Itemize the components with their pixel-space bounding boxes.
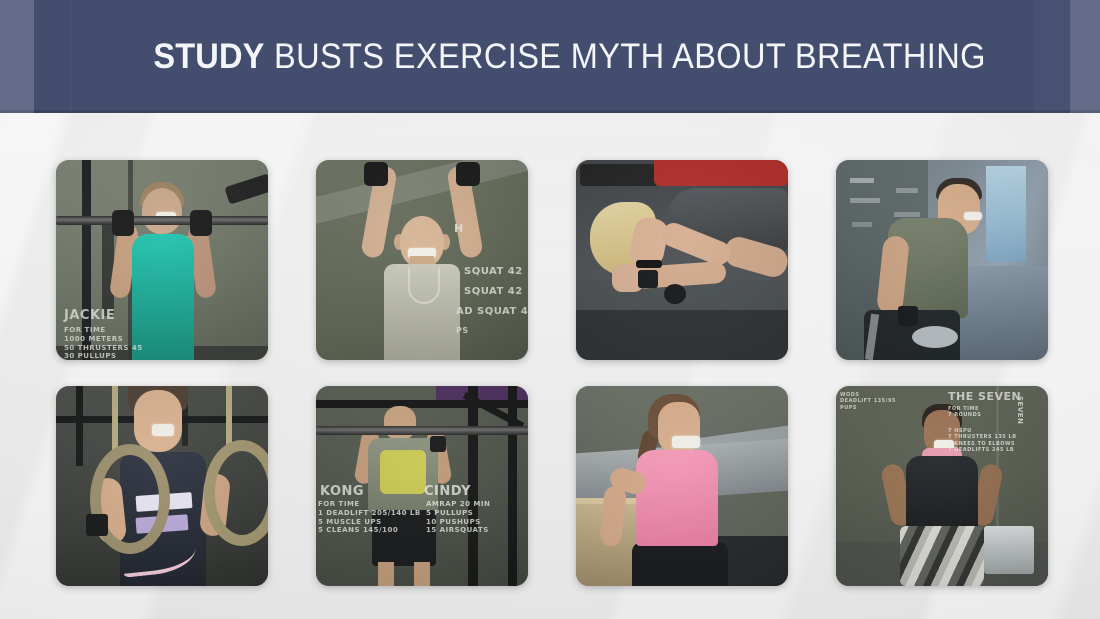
athlete-right-leg [414, 562, 430, 586]
locker-label-2 [850, 198, 880, 203]
mouthpiece [152, 424, 174, 436]
whiteboard-side-text: SEVEN [1015, 396, 1024, 424]
whiteboard-text-top: H [454, 222, 464, 236]
background-person-red-shirt [654, 160, 788, 186]
banner-seam [70, 0, 71, 113]
sport-watch-wrist [638, 270, 658, 288]
whiteboard-line-4: PS [456, 326, 469, 336]
photo-7-scene [576, 386, 788, 586]
necklace [408, 268, 440, 304]
rig-upright [76, 386, 83, 466]
athlete-right-glove [190, 210, 212, 236]
rig-crossbar [316, 400, 528, 408]
locker-label-1 [850, 178, 874, 183]
athlete-left-leg [378, 562, 394, 586]
gallery-photo-1[interactable]: JACKIE FOR TIME 1000 METERS 50 THRUSTERS… [56, 160, 268, 360]
gallery-photo-7[interactable] [576, 386, 788, 586]
gallery-photo-8[interactable]: WODS DEADLIFT 135/95 PUPS THE SEVEN FOR … [836, 386, 1048, 586]
sport-watch [86, 514, 108, 536]
rig-attachment [224, 173, 268, 204]
locker-label-4 [894, 212, 920, 217]
photo-3-scene [576, 160, 788, 360]
whiteboard-workout-details: FOR TIME 1000 METERS 50 THRUSTERS 45 30 … [64, 326, 143, 360]
whiteboard-workout-format: FOR TIME 7 ROUNDS [948, 406, 981, 419]
banner-main-band: STUDY BUSTS EXERCISE MYTH ABOUT BREATHIN… [70, 0, 1070, 113]
mouthpiece [672, 436, 700, 448]
whiteboard-workout-name-left: KONG [320, 484, 364, 500]
athlete-head [142, 188, 182, 234]
athlete-head [134, 390, 182, 452]
page-title-lead: STUDY [154, 37, 265, 76]
photo-6-scene: KONG FOR TIME 1 DEADLIFT 205/140 LB 5 MU… [316, 386, 528, 586]
banner-left-edge-panel [0, 0, 34, 113]
photo-2-scene: H SQUAT 42 SQUAT 42 AD SQUAT 43 PS [316, 160, 528, 360]
athlete-torso-black-tshirt [906, 456, 978, 532]
equipment-bin [984, 526, 1034, 574]
banner-right-shade [1034, 0, 1070, 113]
whiteboard-workout-name-right: CINDY [424, 484, 471, 500]
athlete-legs [632, 542, 728, 586]
whiteboard-line-3: AD SQUAT 43 [456, 306, 528, 319]
page-title-rest: BUSTS EXERCISE MYTH ABOUT BREATHING [265, 37, 986, 76]
slide-canvas: STUDY BUSTS EXERCISE MYTH ABOUT BREATHIN… [0, 0, 1100, 619]
athlete-camo-leggings [900, 526, 984, 586]
athlete-left-glove [112, 210, 134, 236]
gallery-photo-5[interactable] [56, 386, 268, 586]
pull-up-bar [56, 216, 268, 225]
header-banner: STUDY BUSTS EXERCISE MYTH ABOUT BREATHIN… [0, 0, 1100, 113]
photo-5-scene [56, 386, 268, 586]
whiteboard-workout-name: THE SEVEN [948, 390, 1021, 404]
athlete-right-glove [456, 162, 480, 186]
locker-label-3 [896, 188, 918, 193]
wrist-band [430, 436, 446, 452]
gymnastic-ring-left [90, 444, 170, 554]
tshirt-graphic [380, 450, 426, 494]
gym-window [986, 166, 1026, 262]
banner-left-inner-panel [34, 0, 70, 113]
gym-floor [576, 310, 788, 360]
dumbbell-rack [580, 164, 658, 186]
locker-label-5 [852, 222, 872, 227]
mouthpiece [964, 212, 982, 220]
whiteboard-workout-details-right: AMRAP 20 MIN 5 PULLUPS 10 PUSHUPS 15 AIR… [426, 500, 490, 535]
whiteboard-line-1: SQUAT 42 [464, 266, 523, 279]
page-title: STUDY BUSTS EXERCISE MYTH ABOUT BREATHIN… [154, 39, 986, 74]
athlete-left-glove [364, 162, 388, 186]
whiteboard-line-2: SQUAT 42 [464, 286, 523, 299]
weight-plate [912, 326, 958, 348]
photo-4-scene [836, 160, 1048, 360]
wrist-strap [636, 260, 662, 268]
gallery-photo-3[interactable] [576, 160, 788, 360]
pull-up-bar [316, 426, 528, 435]
whiteboard-workout-details: 7 HSPU 7 THRUSTERS 135 LB 7 KNEES TO ELB… [948, 428, 1017, 453]
photo-1-scene: JACKIE FOR TIME 1000 METERS 50 THRUSTERS… [56, 160, 268, 360]
banner-right-edge-panel [1070, 0, 1100, 113]
gallery-photo-4[interactable] [836, 160, 1048, 360]
whiteboard-workout-details-left: FOR TIME 1 DEADLIFT 205/140 LB 5 MUSCLE … [318, 500, 421, 535]
gallery-photo-6[interactable]: KONG FOR TIME 1 DEADLIFT 205/140 LB 5 MU… [316, 386, 528, 586]
whiteboard-workout-name: JACKIE [64, 308, 115, 324]
rig-upright-secondary [508, 386, 517, 586]
athlete-torso-pink-shirt [636, 450, 718, 546]
heart-rate-monitor [664, 284, 686, 304]
photo-gallery-grid: JACKIE FOR TIME 1000 METERS 50 THRUSTERS… [56, 160, 1046, 586]
ring-strap-right [226, 386, 232, 446]
ring-strap-left [112, 386, 118, 450]
photo-8-scene: WODS DEADLIFT 135/95 PUPS THE SEVEN FOR … [836, 386, 1048, 586]
gallery-photo-2[interactable]: H SQUAT 42 SQUAT 42 AD SQUAT 43 PS [316, 160, 528, 360]
banner-bottom-edge [0, 110, 1100, 113]
sport-watch [898, 306, 918, 326]
whiteboard-text-left: WODS DEADLIFT 135/95 PUPS [840, 392, 896, 411]
